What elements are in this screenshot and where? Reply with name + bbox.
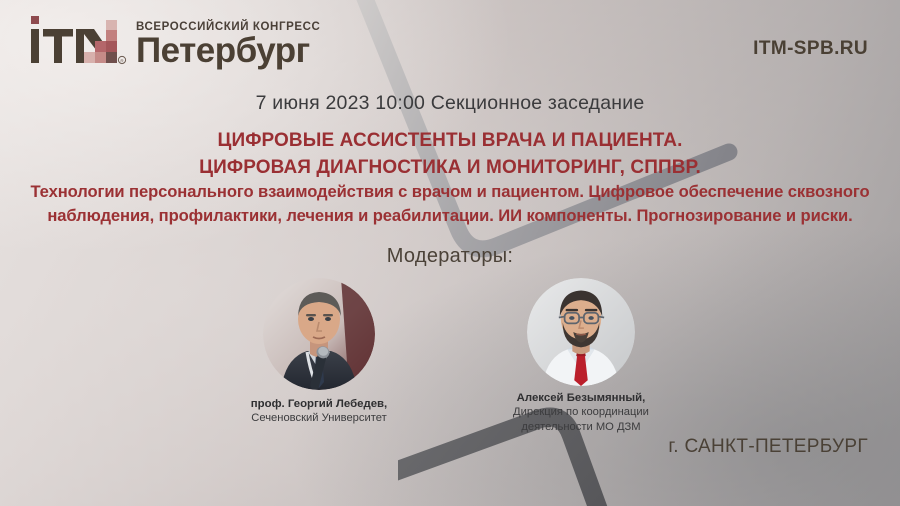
slide-canvas: R ВСЕРОССИЙСКИЙ КОНГРЕСС Петербург ITM-S… xyxy=(0,0,900,506)
session-subtitle-line-1: Технологии персонального взаимодействия … xyxy=(14,180,886,204)
avatar xyxy=(527,278,635,386)
moderator-role-line: Сеченовский Университет xyxy=(219,411,419,425)
moderators-label: Модераторы: xyxy=(0,245,900,268)
moderator-role-line: деятельности МО ДЗМ xyxy=(481,420,681,434)
moderators-list: проф. Георгий Лебедев, Сеченовский Униве… xyxy=(0,278,900,434)
itm-logo: R ВСЕРОССИЙСКИЙ КОНГРЕСС Петербург xyxy=(28,12,320,68)
moderator-name: проф. Георгий Лебедев, xyxy=(219,397,419,411)
avatar xyxy=(263,278,375,390)
itm-logo-wordmark: ВСЕРОССИЙСКИЙ КОНГРЕСС Петербург xyxy=(136,22,320,68)
moderator-card-2: Алексей Безымянный, Дирекция по координа… xyxy=(481,278,681,434)
moderator-role-line: Дирекция по координации xyxy=(481,405,681,419)
session-title-line-2: ЦИФРОВАЯ ДИАГНОСТИКА И МОНИТОРИНГ, СППВР… xyxy=(0,155,900,182)
site-url-label[interactable]: ITM-SPB.RU xyxy=(753,38,868,60)
session-title-line-1: ЦИФРОВЫЕ АССИСТЕНТЫ ВРАЧА И ПАЦИЕНТА. xyxy=(0,128,900,155)
logo-city-word: Петербург xyxy=(136,35,320,67)
session-datetime-label: 7 июня 2023 10:00 Секционное заседание xyxy=(0,92,900,115)
session-subtitle: Технологии персонального взаимодействия … xyxy=(14,180,886,228)
moderator-card-1: проф. Георгий Лебедев, Сеченовский Униве… xyxy=(219,278,419,426)
portrait-georgy-lebedev-icon xyxy=(263,278,375,390)
itm-logo-mark-icon: R xyxy=(28,12,140,68)
moderator-name: Алексей Безымянный, xyxy=(481,391,681,405)
city-label: г. САНКТ-ПЕТЕРБУРГ xyxy=(668,436,868,458)
session-subtitle-line-2: наблюдения, профилактики, лечения и реаб… xyxy=(14,204,886,228)
session-title: ЦИФРОВЫЕ АССИСТЕНТЫ ВРАЧА И ПАЦИЕНТА. ЦИ… xyxy=(0,128,900,182)
portrait-alexey-bezymyanny-icon xyxy=(527,278,635,386)
